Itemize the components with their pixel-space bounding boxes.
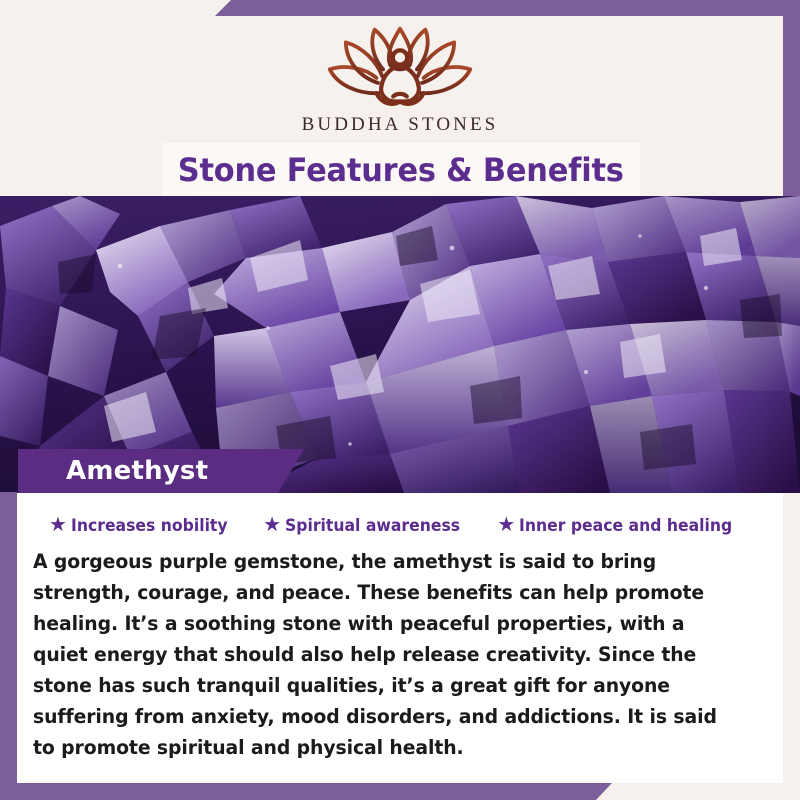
benefit-item: ★ Increases nobility — [49, 516, 241, 536]
stone-description: A gorgeous purple gemstone, the amethyst… — [33, 546, 741, 763]
benefit-item: ★ Inner peace and healing — [497, 516, 751, 536]
amethyst-crystal-photo: Amethyst — [0, 196, 800, 493]
benefit-label: Inner peace and healing — [519, 516, 732, 536]
benefits-list: ★ Increases nobility ★ Spiritual awarene… — [17, 493, 783, 536]
lotus-meditation-figure-icon — [315, 22, 485, 110]
benefit-item: ★ Spiritual awareness — [263, 516, 475, 536]
stone-info-card: BUDDHA STONES Stone Features & Benefits — [0, 0, 800, 800]
star-icon: ★ — [263, 515, 281, 535]
title-plaque: Stone Features & Benefits — [162, 143, 640, 196]
benefit-label: Increases nobility — [71, 516, 228, 536]
brand-name: BUDDHA STONES — [302, 114, 499, 136]
benefit-label: Spiritual awareness — [285, 516, 460, 536]
page-title: Stone Features & Benefits — [178, 151, 624, 189]
star-icon: ★ — [49, 515, 67, 535]
stone-name-banner: Amethyst — [18, 449, 304, 493]
frame-accent-top — [215, 0, 800, 16]
stone-name-label: Amethyst — [66, 456, 208, 486]
brand-logo: BUDDHA STONES — [0, 22, 800, 136]
star-icon: ★ — [497, 515, 515, 535]
frame-accent-bottom — [0, 783, 612, 800]
frame-accent-right — [783, 0, 800, 196]
stone-details-panel: ★ Increases nobility ★ Spiritual awarene… — [17, 493, 783, 783]
frame-accent-left — [0, 492, 17, 800]
